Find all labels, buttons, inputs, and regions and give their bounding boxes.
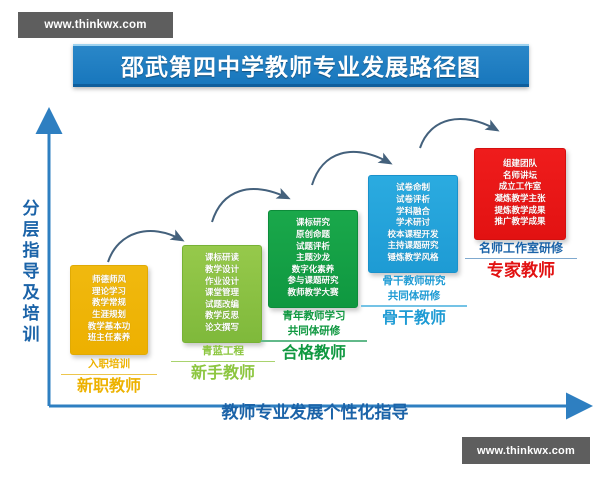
stage-5-item: 组建团队 (503, 159, 537, 171)
stage-1-item: 教学常规 (92, 298, 126, 310)
stage-3-item: 参与课题研究 (287, 276, 338, 288)
stage-3-item: 课标研究 (296, 218, 330, 230)
stage-2-item: 论文撰写 (205, 323, 239, 335)
stage-5-item: 凝炼教学主张 (494, 194, 545, 206)
stage-3-item: 原创命题 (296, 230, 330, 242)
stage-1-sub-caption: 入职培训 (58, 358, 160, 373)
x-axis-label: 教师专业发展个性化指导 (190, 398, 440, 423)
stage-2-box[interactable]: 课标研读 教学设计 作业设计 课堂管理 试题改编 教学反思 论文撰写 (182, 245, 262, 343)
stage-3-box[interactable]: 课标研究 原创命题 试题评析 主题沙龙 数字化素养 参与课题研究 教师教学大赛 (268, 210, 358, 308)
stage-2-main-caption: 新手教师 (168, 364, 278, 383)
stage-2-item: 作业设计 (205, 277, 239, 289)
stage-1-item: 班主任素养 (88, 333, 131, 345)
stage-4-rule (361, 305, 467, 307)
stage-4-item: 试卷评析 (396, 195, 430, 207)
stage-1-box[interactable]: 师德师风 理论学习 教学常规 生涯规划 教学基本功 班主任素养 (70, 265, 148, 355)
stage-1-item: 理论学习 (92, 287, 126, 299)
stage-5-item: 推广教学成果 (494, 217, 545, 229)
stage-4-main-caption: 骨干教师 (358, 309, 470, 328)
stage-4-caption: 骨干教师研究 共同体研修 骨干教师 (358, 275, 470, 328)
stage-3-main-caption: 合格教师 (258, 344, 370, 363)
stage-3-rule (261, 340, 367, 342)
title-banner: 邵武第四中学教师专业发展路径图 (73, 44, 529, 87)
stage-1-caption: 入职培训 新职教师 (58, 358, 160, 396)
stage-5-item: 名师讲坛 (503, 171, 537, 183)
stage-3-sub-caption-line2: 共同体研修 (258, 325, 370, 340)
stage-1-item: 教学基本功 (88, 322, 131, 334)
diagram-canvas: 分层指导及培训 教师专业发展个性化指导 师德师风 理论学习 教学常规 生涯规划 … (0, 0, 600, 480)
stage-3-item: 试题评析 (296, 242, 330, 254)
stage-5-item: 提炼教学成果 (494, 206, 545, 218)
stage-1-rule (61, 374, 157, 376)
page-title: 邵武第四中学教师专业发展路径图 (121, 48, 481, 82)
stage-2-item: 课堂管理 (205, 288, 239, 300)
watermark-top: www.thinkwx.com (18, 12, 173, 38)
stage-3-item: 教师教学大赛 (287, 288, 338, 300)
stage-2-item: 教学反思 (205, 311, 239, 323)
stage-1-item: 师德师风 (92, 275, 126, 287)
stage-4-item: 试卷命制 (396, 183, 430, 195)
stage-4-sub-caption-line2: 共同体研修 (358, 290, 470, 305)
stage-5-box[interactable]: 组建团队 名师讲坛 成立工作室 凝炼教学主张 提炼教学成果 推广教学成果 (474, 148, 566, 240)
stage-4-item: 锤炼教学风格 (387, 253, 438, 265)
stage-3-item: 主题沙龙 (296, 253, 330, 265)
stage-2-item: 试题改编 (205, 300, 239, 312)
stage-4-item: 主持课题研究 (387, 241, 438, 253)
watermark-bottom: www.thinkwx.com (462, 437, 590, 464)
stage-2-item: 教学设计 (205, 265, 239, 277)
stage-1-main-caption: 新职教师 (58, 377, 160, 396)
stage-4-box[interactable]: 试卷命制 试卷评析 学科融合 学术研讨 校本课程开发 主持课题研究 锤炼教学风格 (368, 175, 458, 273)
stage-5-sub-caption: 名师工作室研修 (462, 242, 580, 257)
stage-3-sub-caption-line1: 青年教师学习 (258, 310, 370, 325)
stage-5-rule (465, 258, 577, 260)
stage-4-item: 学科融合 (396, 207, 430, 219)
stage-5-main-caption: 专家教师 (462, 261, 580, 280)
stage-3-caption: 青年教师学习 共同体研修 合格教师 (258, 310, 370, 363)
y-axis-label: 分层指导及培训 (18, 198, 44, 345)
stage-4-sub-caption-line1: 骨干教师研究 (358, 275, 470, 290)
stage-4-item: 校本课程开发 (387, 230, 438, 242)
stage-4-item: 学术研讨 (396, 218, 430, 230)
stage-2-item: 课标研读 (205, 253, 239, 265)
stage-1-item: 生涯规划 (92, 310, 126, 322)
stage-5-item: 成立工作室 (499, 182, 542, 194)
stage-3-item: 数字化素养 (292, 265, 335, 277)
stage-5-caption: 名师工作室研修 专家教师 (462, 242, 580, 280)
